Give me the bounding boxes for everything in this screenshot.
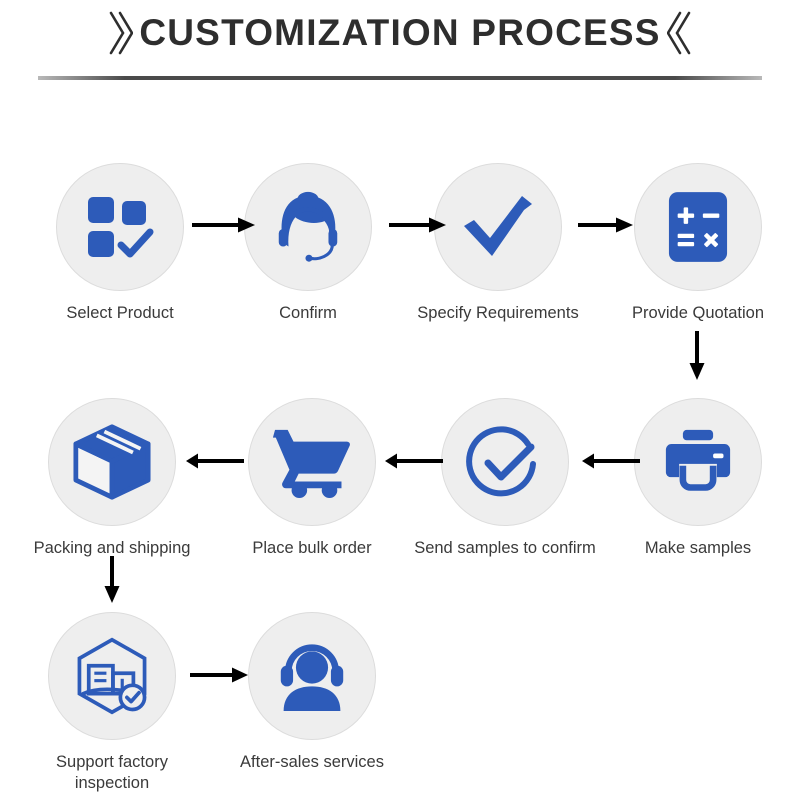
- arrow-step2-to-step3: [389, 216, 447, 234]
- package-box-icon: [72, 423, 152, 501]
- step-icon-circle: [56, 163, 184, 291]
- grid-squares-check-icon: [84, 191, 156, 263]
- step-label: Support factory inspection: [0, 752, 227, 793]
- person-headphones-icon: [272, 641, 352, 711]
- step-icon-circle: [441, 398, 569, 526]
- factory-shield-check-icon: [72, 636, 152, 716]
- step-icon-circle: [634, 163, 762, 291]
- printer-icon: [660, 428, 736, 496]
- header: CUSTOMIZATION PROCESS: [0, 0, 800, 92]
- customization-process-infographic: CUSTOMIZATION PROCESS Select Product: [0, 0, 800, 800]
- arrow-step6-to-step7: [385, 452, 443, 470]
- step-send-samples-to-confirm[interactable]: Send samples to confirm: [415, 398, 595, 559]
- double-chevron-left-icon: [667, 10, 693, 56]
- arrow-step5-to-step6: [582, 452, 640, 470]
- double-chevron-right-icon: [107, 10, 133, 56]
- step-label: Confirm: [218, 303, 398, 324]
- step-label: Select Product: [30, 303, 210, 324]
- step-specify-requirements[interactable]: Specify Requirements: [408, 163, 588, 324]
- step-label: Place bulk order: [197, 538, 427, 559]
- title-row: CUSTOMIZATION PROCESS: [0, 10, 800, 56]
- step-icon-circle: [48, 612, 176, 740]
- step-icon-circle: [634, 398, 762, 526]
- arrow-step8-to-step9: [103, 556, 121, 604]
- checkmark-icon: [460, 192, 536, 262]
- support-agent-headset-icon: [269, 188, 347, 266]
- arrow-step1-to-step2: [192, 216, 256, 234]
- step-icon-circle: [434, 163, 562, 291]
- step-icon-circle: [248, 398, 376, 526]
- calculator-icon: [667, 190, 729, 264]
- shopping-cart-icon: [273, 426, 351, 498]
- step-icon-circle: [48, 398, 176, 526]
- step-place-bulk-order[interactable]: Place bulk order: [222, 398, 402, 559]
- step-provide-quotation[interactable]: Provide Quotation: [608, 163, 788, 324]
- step-label: Specify Requirements: [383, 303, 613, 324]
- step-select-product[interactable]: Select Product: [30, 163, 210, 324]
- check-circle-icon: [465, 422, 545, 502]
- step-label: Provide Quotation: [583, 303, 800, 324]
- page-title: CUSTOMIZATION PROCESS: [139, 12, 660, 54]
- step-label: After-sales services: [197, 752, 427, 773]
- arrow-step7-to-step8: [186, 452, 244, 470]
- step-icon-circle: [244, 163, 372, 291]
- step-packing-and-shipping[interactable]: Packing and shipping: [22, 398, 202, 559]
- step-support-factory-inspection[interactable]: Support factory inspection: [22, 612, 202, 793]
- step-icon-circle: [248, 612, 376, 740]
- step-confirm[interactable]: Confirm: [218, 163, 398, 324]
- arrow-step4-to-step5: [688, 331, 706, 381]
- title-divider: [38, 76, 762, 80]
- arrow-step9-to-step10: [190, 666, 248, 684]
- arrow-step3-to-step4: [578, 216, 634, 234]
- step-make-samples[interactable]: Make samples: [608, 398, 788, 559]
- step-after-sales-services[interactable]: After-sales services: [222, 612, 402, 773]
